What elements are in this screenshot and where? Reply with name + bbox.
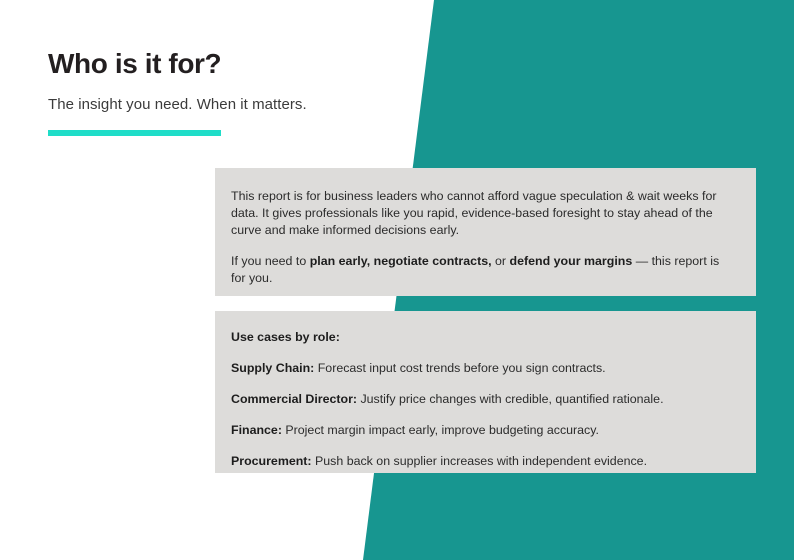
role-line-commercial-director: Commercial Director: Justify price chang…: [231, 391, 730, 408]
slide-header: Who is it for? The insight you need. Whe…: [48, 48, 388, 115]
role-line-procurement: Procurement: Push back on supplier incre…: [231, 453, 730, 470]
intro-paragraph-1: This report is for business leaders who …: [231, 188, 730, 239]
accent-underline-bar: [48, 130, 221, 136]
page-title: Who is it for?: [48, 48, 388, 80]
intro-p2-bold-1: plan early, negotiate contracts,: [310, 254, 492, 268]
intro-paragraph-2: If you need to plan early, negotiate con…: [231, 253, 730, 287]
role-label-finance: Finance:: [231, 423, 282, 437]
role-line-finance: Finance: Project margin impact early, im…: [231, 422, 730, 439]
role-label-supply-chain: Supply Chain:: [231, 361, 314, 375]
intro-p2-prefix: If you need to: [231, 254, 310, 268]
role-label-procurement: Procurement:: [231, 454, 312, 468]
intro-p2-bold-2: defend your margins: [510, 254, 633, 268]
intro-card: This report is for business leaders who …: [215, 168, 756, 296]
page-subtitle: The insight you need. When it matters.: [48, 80, 388, 115]
use-cases-card: Use cases by role: Supply Chain: Forecas…: [215, 311, 756, 473]
role-description-supply-chain: Forecast input cost trends before you si…: [314, 361, 605, 375]
intro-p2-middle: or: [492, 254, 510, 268]
slide-canvas: Who is it for? The insight you need. Whe…: [0, 0, 794, 560]
role-description-procurement: Push back on supplier increases with ind…: [312, 454, 647, 468]
use-cases-heading: Use cases by role:: [231, 329, 730, 346]
role-description-commercial-director: Justify price changes with credible, qua…: [357, 392, 664, 406]
role-label-commercial-director: Commercial Director:: [231, 392, 357, 406]
role-line-supply-chain: Supply Chain: Forecast input cost trends…: [231, 360, 730, 377]
role-description-finance: Project margin impact early, improve bud…: [282, 423, 599, 437]
